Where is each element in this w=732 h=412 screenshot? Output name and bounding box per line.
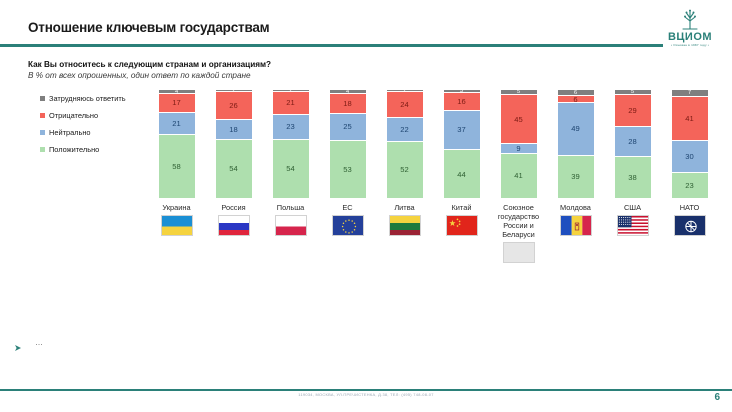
footer-divider: [0, 389, 732, 391]
bar-segment-value: 38: [628, 173, 636, 182]
bar-segment-value: 7: [688, 90, 691, 96]
bar-segment: 41: [501, 154, 537, 198]
bar-segment: 18: [330, 94, 366, 113]
bar-segment: 29: [615, 95, 651, 126]
bar-segment-value: 58: [172, 162, 180, 171]
stacked-bar[interactable]: 3163744: [444, 90, 480, 198]
chart-column: 2212354Польша: [262, 90, 319, 237]
flag-icon: [217, 215, 251, 237]
bar-segment: 58: [159, 135, 195, 198]
bar-segment-value: 21: [286, 98, 294, 107]
stacked-bar[interactable]: 2212354: [273, 90, 309, 198]
bar-segment-value: 44: [457, 170, 465, 179]
chart-column: 4182553ЕС: [319, 90, 376, 237]
flag-icon: [616, 215, 650, 237]
bar-segment-value: 30: [685, 152, 693, 161]
bar-segment: 26: [216, 92, 252, 120]
chart-column: 664939Молдова: [547, 90, 604, 237]
chart-column: 4172158Украина: [148, 90, 205, 237]
logo-wordmark: ВЦИОМ: [656, 31, 724, 43]
bar-segment-value: 18: [229, 125, 237, 134]
category-label: Литва: [378, 203, 432, 212]
chart-column: 7413023НАТО: [661, 90, 718, 237]
chart-column: 545941Союзное государство России и Белар…: [490, 90, 547, 264]
legend-item[interactable]: Нейтрально: [40, 124, 148, 141]
bar-segment-value: 9: [516, 144, 520, 153]
bar-segment-value: 54: [229, 164, 237, 173]
bar-segment: 53: [330, 141, 366, 198]
legend-item[interactable]: Затрудняюсь ответить: [40, 90, 148, 107]
bar-segment-value: 45: [514, 115, 522, 124]
legend-item[interactable]: Положительно: [40, 141, 148, 158]
bar-segment: 21: [273, 92, 309, 115]
bar-segment-value: 21: [172, 119, 180, 128]
bar-segment: 25: [330, 114, 366, 141]
bar-segment: 23: [273, 115, 309, 140]
stacked-bar[interactable]: 4182553: [330, 90, 366, 198]
stacked-bar[interactable]: 7413023: [672, 90, 708, 198]
bar-segment-value: 54: [286, 164, 294, 173]
arrow-bullet-icon: [14, 339, 22, 347]
bar-segment: 54: [273, 140, 309, 198]
category-label: Китай: [435, 203, 489, 212]
category-label: Союзное государство России и Беларуси: [492, 203, 546, 239]
bullet-text: …: [35, 338, 44, 347]
bar-segment-value: 37: [457, 125, 465, 134]
bar-segment-value: 16: [457, 97, 465, 106]
bar-segment: 44: [444, 150, 480, 198]
bar-segment: 45: [501, 95, 537, 144]
chart-question: Как Вы относитесь к следующим странам и …: [28, 60, 271, 69]
bar-segment-value: 41: [514, 171, 522, 180]
bar-segment-value: 29: [628, 106, 636, 115]
bar-segment-value: 17: [172, 98, 180, 107]
bar-segment: 30: [672, 141, 708, 173]
bar-segment-value: 41: [685, 114, 693, 123]
chart-legend: Затрудняюсь ответитьОтрицательноНейтраль…: [40, 90, 148, 158]
category-label: США: [606, 203, 660, 212]
bar-segment: 54: [216, 140, 252, 198]
bar-segment: 49: [558, 103, 594, 156]
bar-segment-value: 25: [343, 122, 351, 131]
bar-segment: 17: [159, 94, 195, 112]
bar-segment-value: 6: [574, 90, 577, 96]
chart-column: 2261854Россия: [205, 90, 262, 237]
flag-icon: [445, 215, 479, 237]
bar-segment: 39: [558, 156, 594, 198]
flag-icon: [331, 215, 365, 237]
flag-icon: [502, 242, 536, 264]
bar-segment: 16: [444, 93, 480, 110]
stacked-bar[interactable]: 2242252: [387, 90, 423, 198]
bar-segment: 7: [672, 90, 708, 97]
bar-segment: 41: [672, 97, 708, 141]
logo-tagline: • Основан в 1987 году •: [656, 43, 724, 48]
bar-segment: 21: [159, 113, 195, 136]
bar-segment-value: 24: [400, 100, 408, 109]
bar-segment: 9: [501, 144, 537, 154]
stacked-bar[interactable]: 4172158: [159, 90, 195, 198]
category-label: Россия: [207, 203, 261, 212]
bar-segment-value: 22: [400, 125, 408, 134]
stacked-bar[interactable]: 545941: [501, 90, 537, 198]
bar-segment-value: 23: [286, 122, 294, 131]
bar-segment: 37: [444, 111, 480, 151]
stacked-bar[interactable]: 5292838: [615, 90, 651, 198]
chart-subtitle: В % от всех опрошенных, один ответ по ка…: [28, 71, 251, 80]
flag-icon: [160, 215, 194, 237]
flag-icon: [559, 215, 593, 237]
bar-segment: 23: [672, 173, 708, 198]
category-label: ЕС: [321, 203, 375, 212]
bar-segment: 24: [387, 92, 423, 118]
legend-swatch-icon: [40, 147, 45, 152]
legend-swatch-icon: [40, 96, 45, 101]
legend-item-label: Нейтрально: [49, 128, 91, 137]
chart-column: 2242252Литва: [376, 90, 433, 237]
tree-icon: [656, 7, 724, 31]
bar-segment: 22: [387, 118, 423, 142]
vciom-logo: ВЦИОМ • Основан в 1987 году •: [656, 7, 724, 48]
legend-item-label: Отрицательно: [49, 111, 98, 120]
category-label: Украина: [150, 203, 204, 212]
bar-segment-value: 49: [571, 124, 579, 133]
flag-icon: [673, 215, 707, 237]
legend-item-label: Затрудняюсь ответить: [49, 94, 126, 103]
stacked-bar[interactable]: 664939: [558, 90, 594, 198]
page-title: Отношение ключевым государствам: [28, 20, 269, 35]
bar-segment: 28: [615, 127, 651, 157]
bar-segment-value: 53: [343, 165, 351, 174]
flag-icon: [274, 215, 308, 237]
bar-segment-value: 39: [571, 172, 579, 181]
bar-segment: 18: [216, 120, 252, 139]
bar-segment: 38: [615, 157, 651, 198]
chart-column: 5292838США: [604, 90, 661, 237]
category-label: Молдова: [549, 203, 603, 212]
page-number: 6: [714, 392, 720, 403]
bar-segment-value: 18: [343, 99, 351, 108]
header-divider: [0, 44, 663, 47]
bar-segment-value: 26: [229, 101, 237, 110]
legend-swatch-icon: [40, 130, 45, 135]
chart-column: 3163744Китай: [433, 90, 490, 237]
category-label: Польша: [264, 203, 318, 212]
bar-segment-value: 52: [400, 165, 408, 174]
bullet-row: …: [14, 338, 44, 347]
legend-swatch-icon: [40, 113, 45, 118]
footer-address: 119034, МОСКВА, УЛ.ПРЕЧИСТЕНКА, Д.38, ТЕ…: [0, 392, 732, 397]
bar-segment-value: 28: [628, 137, 636, 146]
bar-segment: 52: [387, 142, 423, 198]
legend-item-label: Положительно: [49, 145, 99, 154]
category-label: НАТО: [663, 203, 717, 212]
legend-item[interactable]: Отрицательно: [40, 107, 148, 124]
stacked-bar-chart: 4172158Украина2261854Россия2212354Польша…: [148, 90, 718, 270]
flag-icon: [388, 215, 422, 237]
bar-segment-value: 23: [685, 181, 693, 190]
stacked-bar[interactable]: 2261854: [216, 90, 252, 198]
